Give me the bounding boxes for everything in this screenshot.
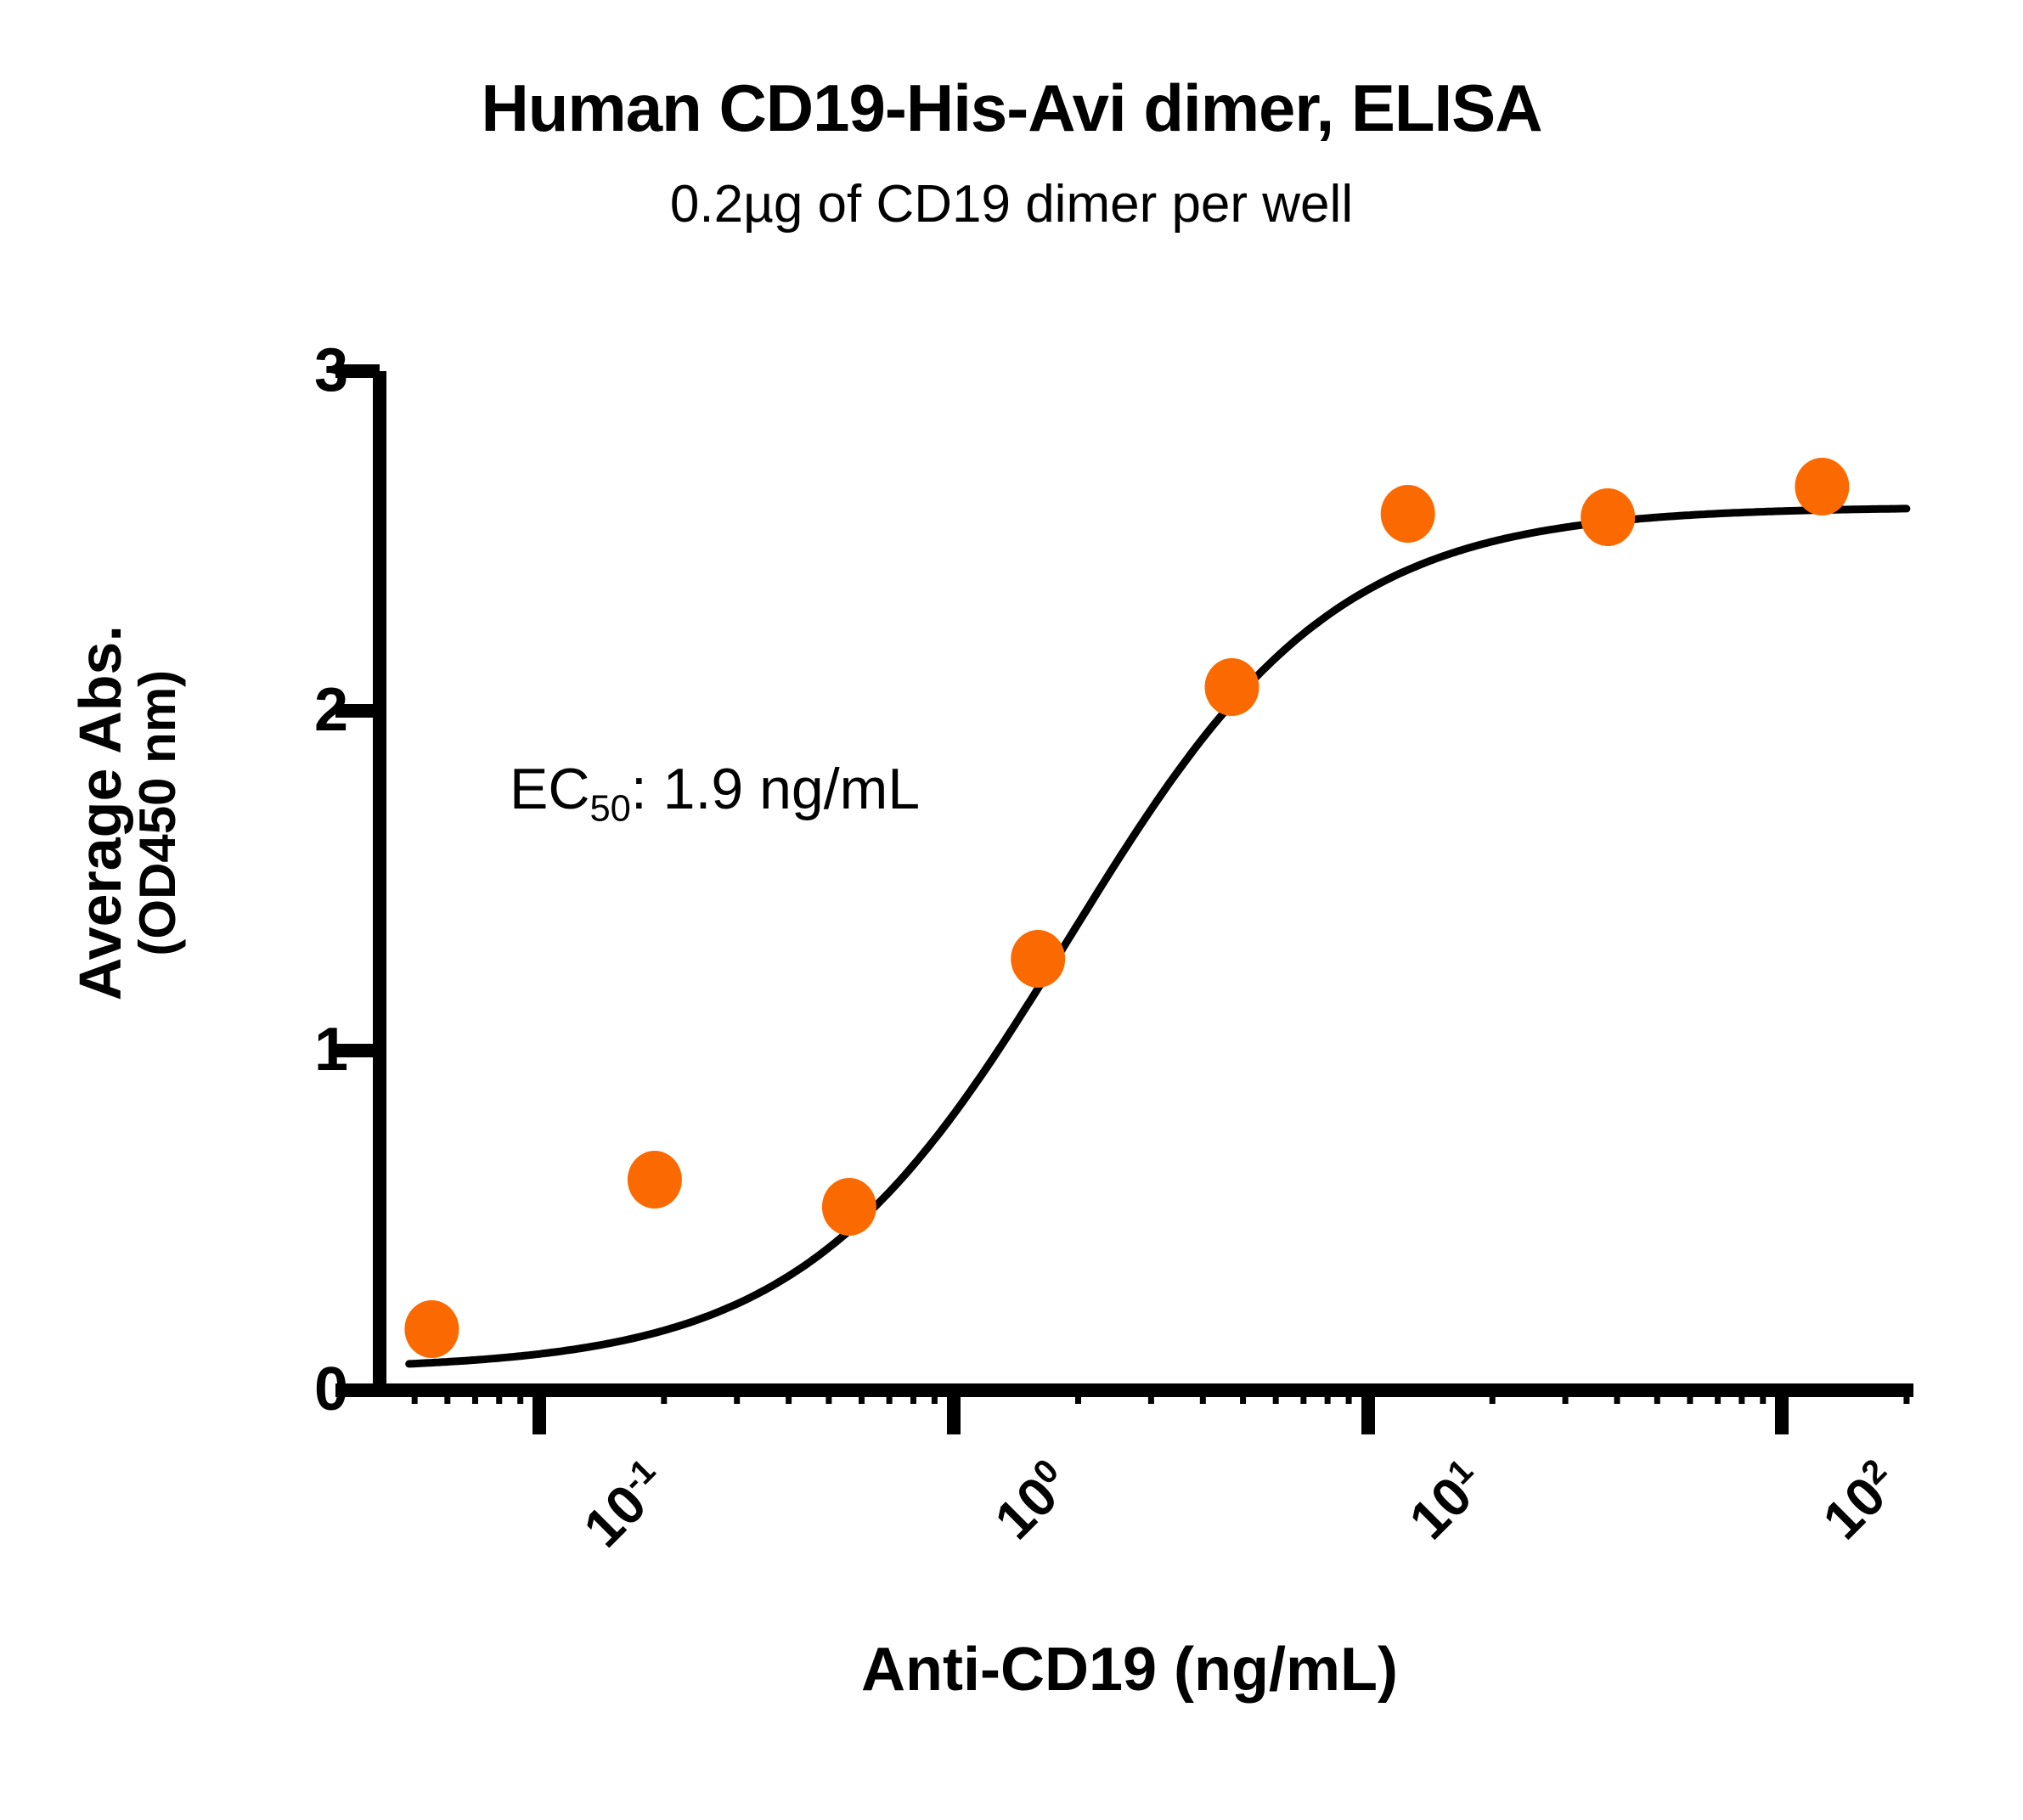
data-point-marker	[628, 1151, 682, 1209]
axes-group	[335, 371, 1913, 1434]
data-point-marker	[1381, 485, 1435, 543]
data-point-marker	[822, 1178, 876, 1236]
data-point-marker	[1581, 488, 1635, 546]
chart-figure: Human CD19-His-Avi dimer, ELISA 0.2µg of…	[0, 0, 2023, 1820]
fit-curve	[409, 509, 1907, 1364]
plot-canvas	[0, 0, 2023, 1820]
fit-curve-path	[409, 509, 1907, 1364]
data-point-marker	[1795, 458, 1849, 516]
data-point-marker	[1205, 658, 1259, 716]
data-point-markers	[404, 458, 1849, 1358]
data-point-marker	[1011, 930, 1065, 988]
data-point-marker	[404, 1300, 459, 1358]
